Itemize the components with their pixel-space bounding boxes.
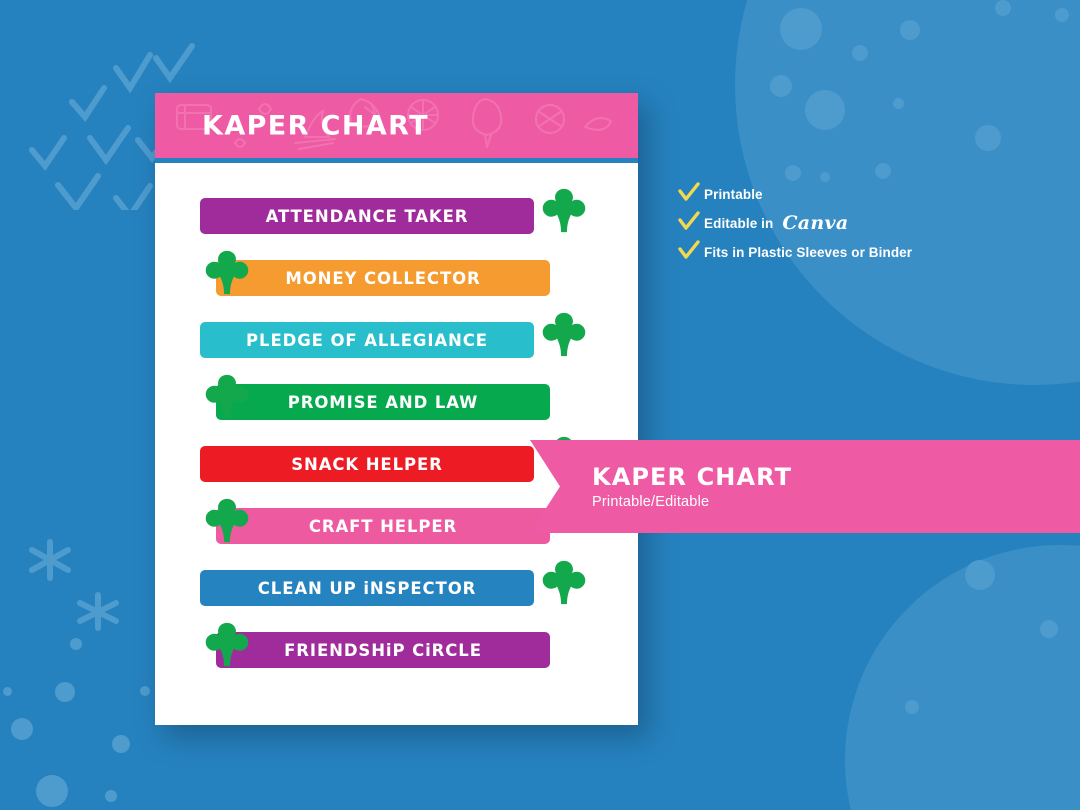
- bubble-decor: [893, 98, 904, 109]
- kaper-row[interactable]: PLEDGE OF ALLEGIANCE: [155, 309, 638, 371]
- feature-label: Printable: [704, 187, 763, 202]
- bubble-decor: [995, 0, 1011, 16]
- bubble-decor: [55, 682, 75, 702]
- bubble-decor: [820, 172, 830, 182]
- trefoil-icon: [199, 248, 255, 309]
- kaper-role-bar[interactable]: PLEDGE OF ALLEGIANCE: [200, 322, 534, 358]
- kaper-role-bar[interactable]: ATTENDANCE TAKER: [200, 198, 534, 234]
- check-icon: [678, 182, 704, 207]
- trefoil-icon: [536, 186, 592, 247]
- poster-title: KAPER CHART: [202, 110, 429, 141]
- trefoil-icon: [199, 372, 255, 428]
- feature-label: Fits in Plastic Sleeves or Binder: [704, 245, 912, 260]
- bubble-decor: [975, 125, 1001, 151]
- bubble-decor: [805, 90, 845, 130]
- kaper-role-label: MONEY COLLECTOR: [285, 269, 480, 288]
- kaper-role-bar[interactable]: SNACK HELPER: [200, 446, 534, 482]
- asterisk-doodle-group: [10, 510, 140, 650]
- feature-checklist: PrintableEditable inCanvaFits in Plastic…: [678, 182, 1008, 269]
- bubble-decor: [785, 165, 801, 181]
- kaper-role-label: ATTENDANCE TAKER: [266, 207, 469, 226]
- bubble-decor: [36, 775, 68, 807]
- bubble-decor: [11, 718, 33, 740]
- trefoil-icon: [199, 620, 255, 681]
- promo-ribbon-title: KAPER CHART: [592, 463, 792, 489]
- promo-ribbon: KAPER CHART Printable/Editable: [530, 440, 1080, 533]
- canva-wordmark: Canva: [782, 212, 848, 234]
- bubble-decor: [900, 20, 920, 40]
- feature-item: Fits in Plastic Sleeves or Binder: [678, 240, 1008, 264]
- feature-item: Editable inCanva: [678, 211, 1008, 235]
- bubble-decor: [852, 45, 868, 61]
- trefoil-icon: [536, 310, 592, 371]
- kaper-role-label: SNACK HELPER: [291, 455, 443, 474]
- kaper-role-label: CRAFT HELPER: [309, 517, 457, 536]
- background-blob-bottom-right: [845, 545, 1080, 810]
- poster-card: KAPER CHART ATTENDANCE TAKERMONEY COLLEC…: [155, 93, 638, 725]
- bubble-decor: [105, 790, 117, 802]
- poster-mockup-canvas: KAPER CHART ATTENDANCE TAKERMONEY COLLEC…: [0, 0, 1080, 810]
- kaper-row[interactable]: ATTENDANCE TAKER: [155, 185, 638, 247]
- trefoil-icon: [199, 372, 255, 433]
- kaper-role-label: CLEAN UP iNSPECTOR: [258, 579, 476, 598]
- feature-item: Printable: [678, 182, 1008, 206]
- trefoil-icon: [199, 248, 255, 304]
- bubble-decor: [780, 8, 822, 50]
- trefoil-icon: [199, 620, 255, 676]
- kaper-role-label: PLEDGE OF ALLEGIANCE: [246, 331, 488, 350]
- kaper-row[interactable]: CLEAN UP iNSPECTOR: [155, 557, 638, 619]
- kaper-row[interactable]: PROMISE AND LAW: [155, 371, 638, 433]
- bubble-decor: [112, 735, 130, 753]
- trefoil-icon: [536, 310, 592, 366]
- bubble-decor: [965, 560, 995, 590]
- trefoil-icon: [199, 496, 255, 552]
- feature-label: Editable in: [704, 216, 773, 231]
- bubble-decor: [875, 163, 891, 179]
- promo-ribbon-subtitle: Printable/Editable: [592, 494, 792, 510]
- check-icon: [678, 240, 704, 265]
- bubble-decor: [3, 687, 12, 696]
- trefoil-icon: [536, 186, 592, 242]
- kaper-role-bar[interactable]: PROMISE AND LAW: [216, 384, 550, 420]
- bubble-decor: [905, 700, 919, 714]
- kaper-role-label: FRIENDSHiP CiRCLE: [284, 641, 482, 660]
- kaper-role-bar[interactable]: MONEY COLLECTOR: [216, 260, 550, 296]
- kaper-row[interactable]: MONEY COLLECTOR: [155, 247, 638, 309]
- kaper-rows-list: ATTENDANCE TAKERMONEY COLLECTORPLEDGE OF…: [155, 163, 638, 681]
- check-icon: [678, 211, 704, 236]
- bubble-decor: [770, 75, 792, 97]
- kaper-role-bar[interactable]: CRAFT HELPER: [216, 508, 550, 544]
- kaper-role-bar[interactable]: CLEAN UP iNSPECTOR: [200, 570, 534, 606]
- trefoil-icon: [536, 558, 592, 614]
- bubble-decor: [140, 686, 150, 696]
- promo-ribbon-content: KAPER CHART Printable/Editable: [592, 463, 792, 509]
- kaper-role-label: PROMISE AND LAW: [288, 393, 479, 412]
- poster-header: KAPER CHART: [155, 93, 638, 158]
- bubble-decor: [1055, 8, 1069, 22]
- trefoil-icon: [199, 496, 255, 557]
- bubble-decor: [1040, 620, 1058, 638]
- bubble-decor: [70, 638, 82, 650]
- kaper-role-bar[interactable]: FRIENDSHiP CiRCLE: [216, 632, 550, 668]
- kaper-row[interactable]: FRIENDSHiP CiRCLE: [155, 619, 638, 681]
- trefoil-icon: [536, 558, 592, 619]
